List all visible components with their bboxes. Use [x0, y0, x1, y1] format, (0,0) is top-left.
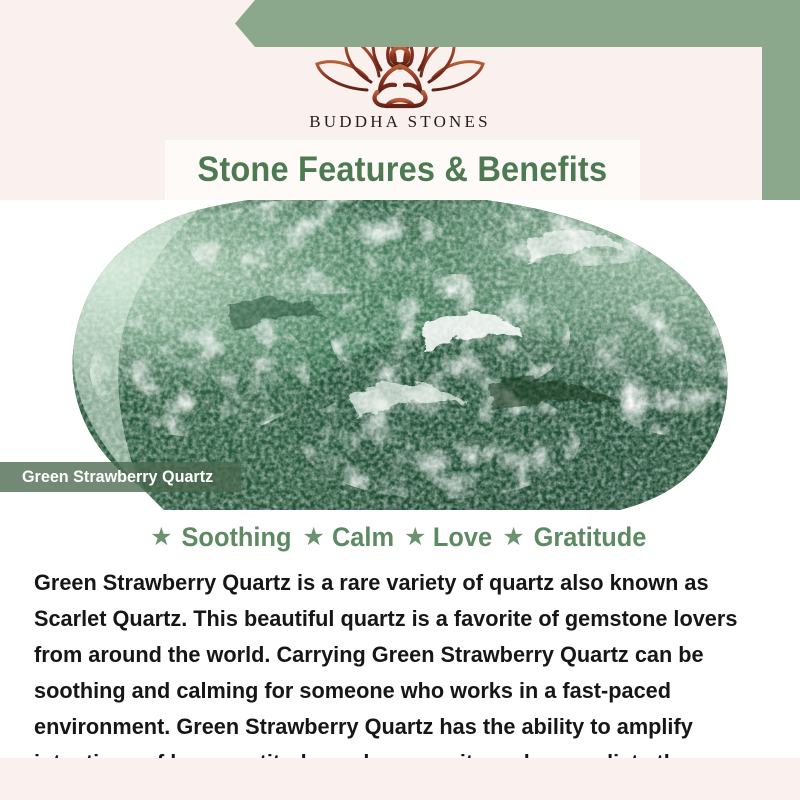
content-section: ★ Soothing ★ Calm ★ Love ★ Gratitude Gre… [0, 510, 800, 758]
star-icon: ★ [404, 525, 426, 550]
benefits-row: ★ Soothing ★ Calm ★ Love ★ Gratitude [0, 510, 800, 553]
title-band: Stone Features & Benefits [165, 140, 640, 200]
frame-bar-top [215, 0, 800, 47]
benefit-label: Soothing [181, 522, 291, 553]
benefit-item: ★ Soothing [150, 522, 294, 553]
page-title: Stone Features & Benefits [198, 150, 608, 190]
image-caption-bar: Green Strawberry Quartz [0, 462, 241, 492]
benefit-label: Gratitude [533, 522, 646, 553]
star-icon: ★ [150, 525, 172, 550]
brand-wordmark: BUDDHA STONES [0, 112, 800, 132]
bottom-strip [0, 758, 800, 800]
benefit-label: Love [433, 522, 492, 553]
benefit-item: ★ Love [404, 522, 494, 553]
hero-section: Green Strawberry Quartz [0, 200, 800, 510]
benefit-label: Calm [332, 522, 394, 553]
image-caption: Green Strawberry Quartz [22, 467, 213, 487]
benefit-item: ★ Calm [303, 522, 396, 553]
infographic-page: BUDDHA STONES Stone Features & Benefits [0, 0, 800, 800]
benefit-item: ★ Gratitude [502, 522, 649, 553]
star-icon: ★ [502, 525, 524, 550]
star-icon: ★ [303, 525, 325, 550]
